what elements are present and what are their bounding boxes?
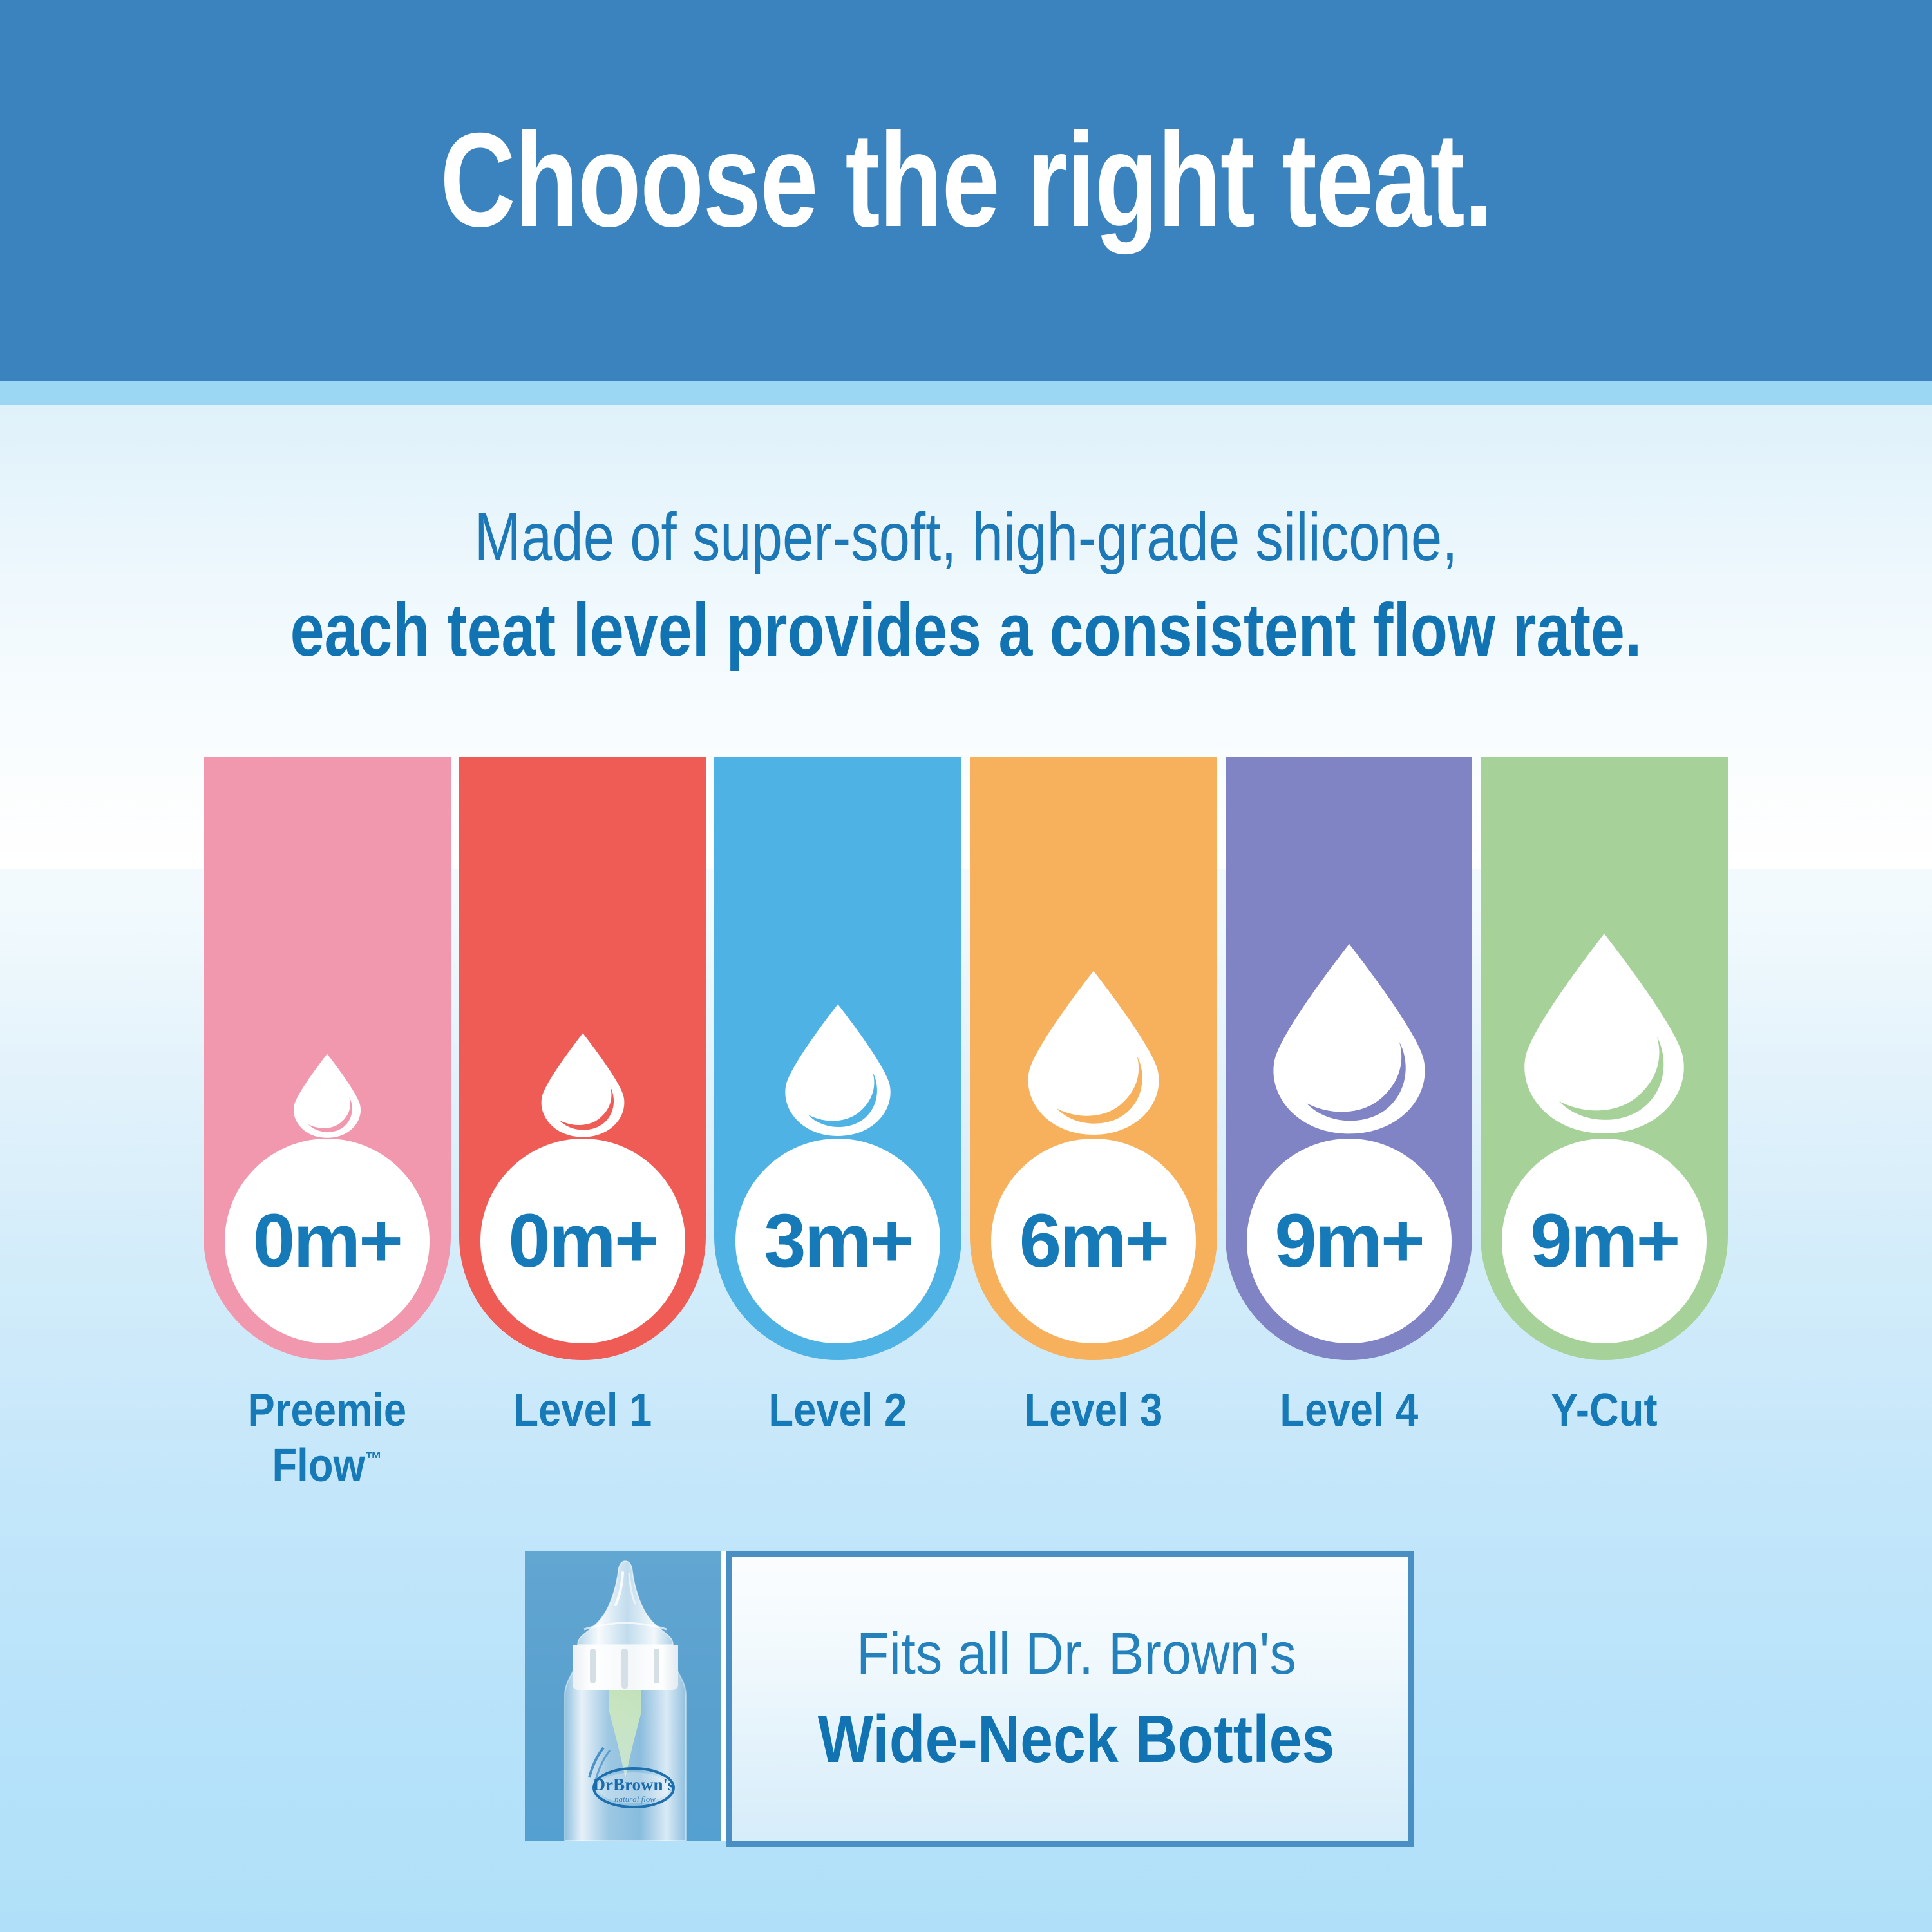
age-badge-label: 3m+	[764, 1203, 912, 1279]
teat-level-label: Level 3	[985, 1386, 1202, 1515]
drop-icon-wrap	[533, 1030, 633, 1141]
age-badge: 3m+	[735, 1139, 940, 1343]
water-drop-icon	[1014, 967, 1173, 1141]
teat-level-label: Level 1	[474, 1386, 692, 1515]
drop-icon-wrap	[1257, 939, 1441, 1141]
teat-level-label: Level 4	[1240, 1386, 1458, 1515]
water-drop-icon	[1257, 939, 1441, 1141]
teat-level-card[interactable]: 0m+	[204, 757, 451, 1360]
teat-level-label-line1: Y-Cut	[1495, 1386, 1713, 1435]
page-title: Choose the right teat.	[213, 111, 1719, 250]
teat-level-card[interactable]: 9m+	[1226, 757, 1473, 1360]
age-badge-label: 9m+	[1530, 1203, 1678, 1279]
teat-level-label-line1: Level 2	[729, 1386, 947, 1435]
teat-level-card[interactable]: 6m+	[970, 757, 1217, 1360]
teat-level-label-line1: Level 3	[985, 1386, 1202, 1435]
water-drop-icon	[287, 1052, 368, 1141]
subtitle-line-1: Made of super-soft, high-grade silicone,	[174, 495, 1758, 580]
teat-level-label-line2: Flow™	[218, 1435, 436, 1490]
age-badge: 6m+	[991, 1139, 1196, 1343]
water-drop-icon	[1508, 929, 1701, 1141]
drop-icon-wrap	[287, 1052, 368, 1141]
age-badge-label: 0m+	[508, 1203, 656, 1279]
teat-level-label: Level 2	[729, 1386, 947, 1515]
age-badge: 0m+	[480, 1139, 685, 1343]
teat-level-label-row: PreemieFlow™Level 1Level 2Level 3Level 4…	[204, 1386, 1728, 1515]
bottle-photo-panel: DrBrown's natural flow	[525, 1551, 726, 1841]
teat-level-card-strip: 0m+ 0m+ 3m+ 6m+	[204, 757, 1728, 1360]
teat-level-label: Y-Cut	[1495, 1386, 1713, 1515]
water-drop-icon	[533, 1030, 633, 1141]
age-badge: 0m+	[225, 1139, 430, 1343]
callout-line-1: Fits all Dr. Brown's	[857, 1618, 1296, 1690]
bottle-brand-text: DrBrown's	[592, 1775, 674, 1794]
water-drop-icon	[774, 1001, 902, 1141]
teat-level-card[interactable]: 0m+	[459, 757, 706, 1360]
baby-bottle-image: DrBrown's natural flow	[525, 1551, 726, 1841]
age-badge-label: 0m+	[253, 1203, 401, 1279]
age-badge: 9m+	[1247, 1139, 1452, 1343]
fits-all-bottles-callout: Fits all Dr. Brown's Wide-Neck Bottles	[726, 1551, 1414, 1847]
accent-strip-divider	[0, 381, 1932, 405]
callout-line-2: Wide-Neck Bottles	[818, 1699, 1335, 1780]
subtitle-line-2: each teat level provides a consistent fl…	[174, 583, 1758, 676]
teat-level-label-line1: Preemie	[218, 1386, 436, 1435]
teat-level-label: PreemieFlow™	[218, 1386, 436, 1515]
teat-level-card[interactable]: 9m+	[1481, 757, 1728, 1360]
age-badge-label: 6m+	[1019, 1203, 1168, 1279]
infographic-root: Choose the right teat. Made of super-sof…	[0, 0, 1932, 1932]
subtitle-block: Made of super-soft, high-grade silicone,…	[0, 495, 1932, 676]
drop-icon-wrap	[1508, 929, 1701, 1141]
trademark-symbol: ™	[365, 1448, 382, 1470]
age-badge: 9m+	[1502, 1139, 1707, 1343]
bottle-tagline-text: natural flow	[614, 1794, 656, 1804]
teat-level-card[interactable]: 3m+	[714, 757, 961, 1360]
teat-level-label-line1: Level 4	[1240, 1386, 1458, 1435]
drop-icon-wrap	[1014, 967, 1173, 1141]
header-band: Choose the right teat.	[0, 0, 1932, 381]
teat-level-label-line1: Level 1	[474, 1386, 692, 1435]
drop-icon-wrap	[774, 1001, 902, 1141]
age-badge-label: 9m+	[1274, 1203, 1423, 1279]
